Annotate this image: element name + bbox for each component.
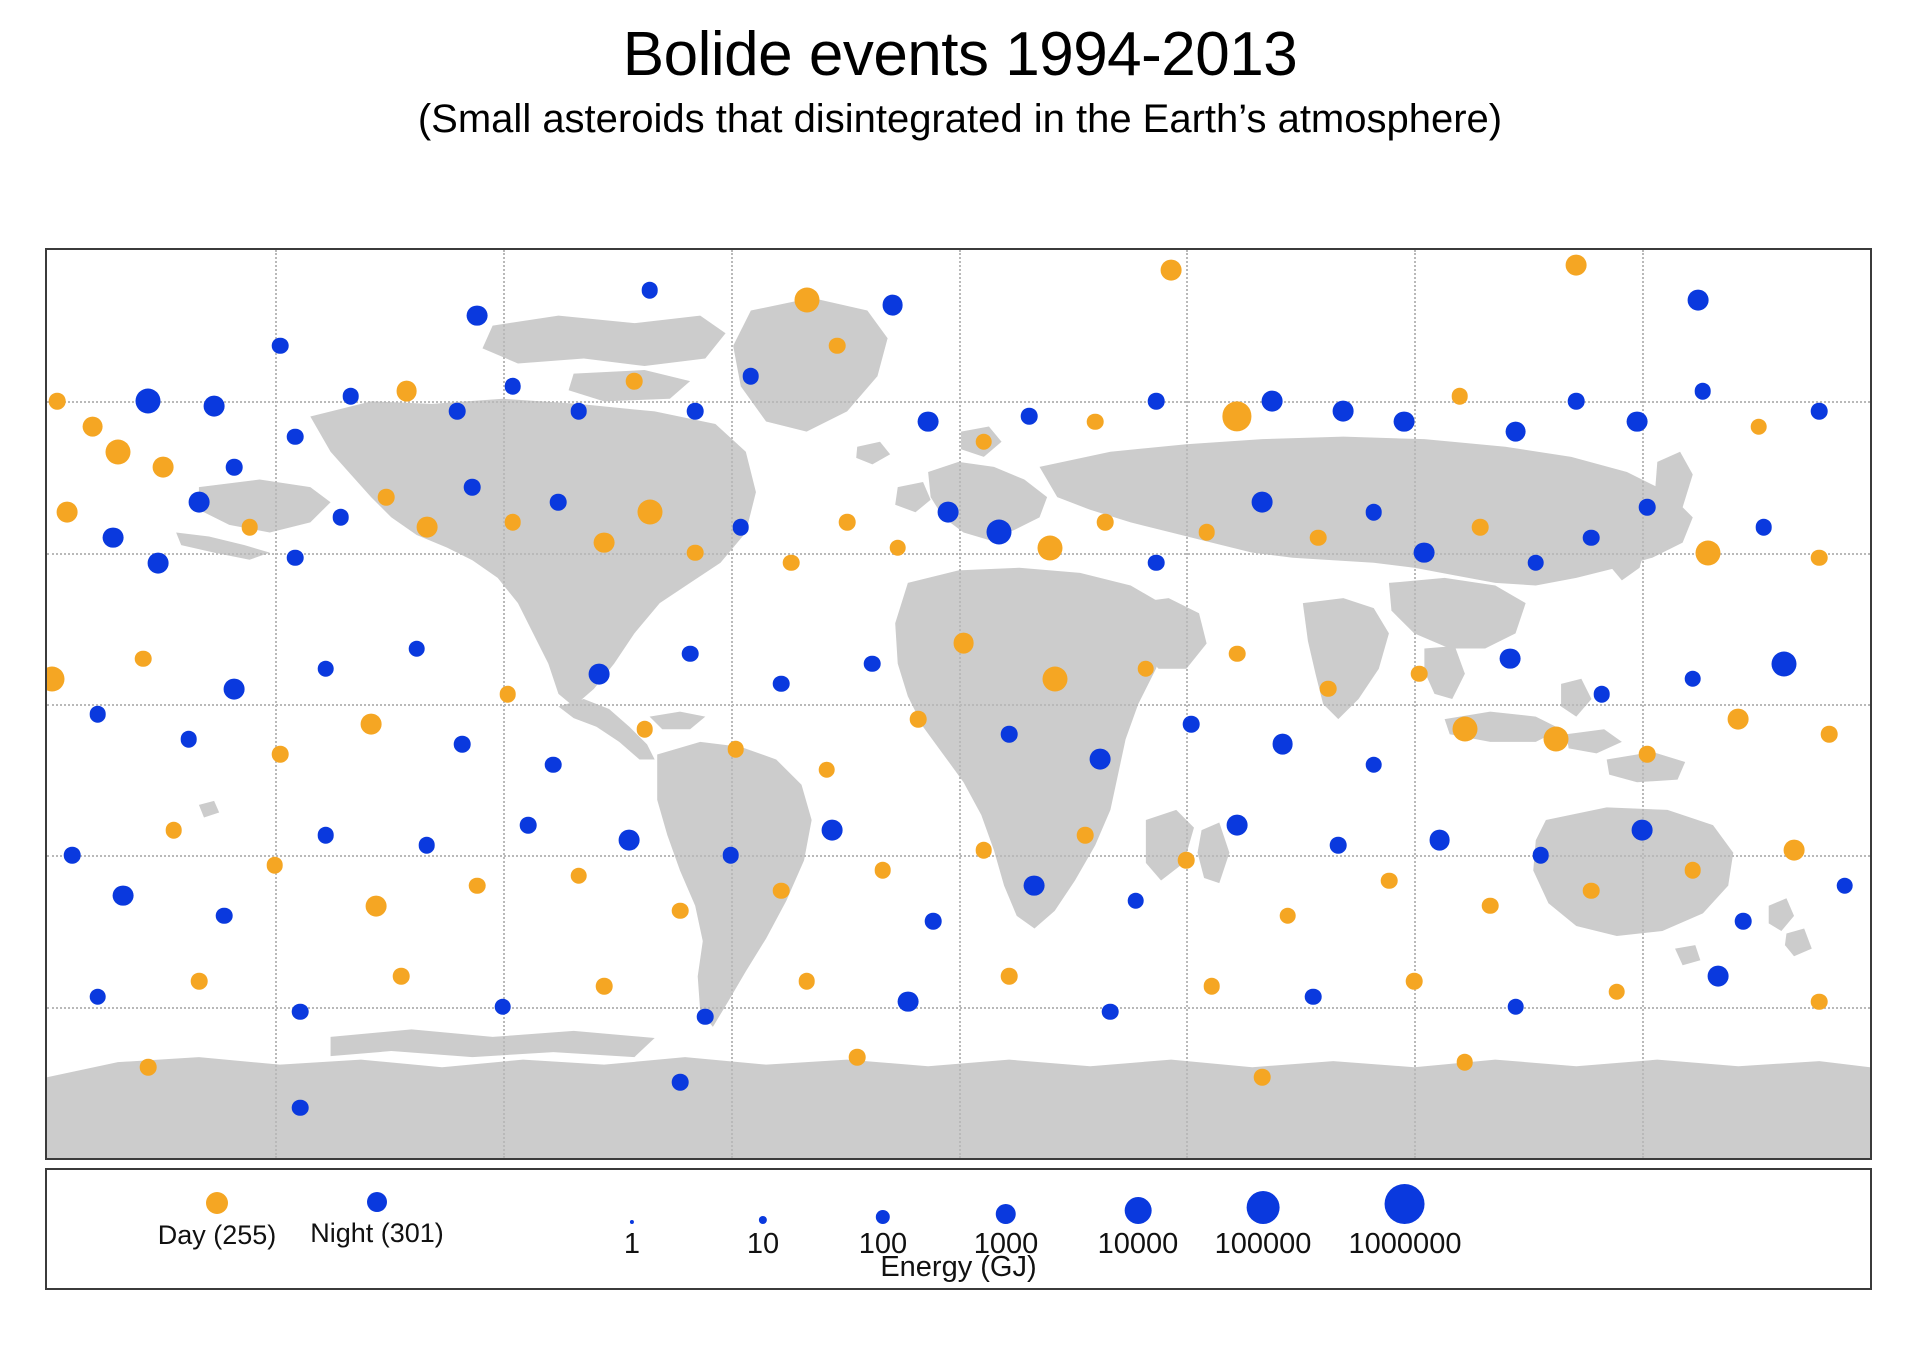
bolide-event-marker[interactable]: [1583, 529, 1600, 546]
bolide-event-marker[interactable]: [1203, 978, 1220, 995]
bolide-event-marker[interactable]: [1148, 554, 1165, 571]
bolide-event-marker[interactable]: [102, 527, 123, 548]
bolide-event-marker[interactable]: [378, 489, 395, 506]
bolide-event-marker[interactable]: [1254, 1069, 1271, 1086]
bolide-event-marker[interactable]: [1811, 403, 1828, 420]
energy-scale-marker-icon: [759, 1216, 767, 1224]
map-canvas[interactable]: [47, 250, 1870, 1158]
bolide-points-layer[interactable]: [47, 250, 1870, 1158]
bolide-event-marker[interactable]: [550, 494, 567, 511]
bolide-event-marker[interactable]: [1566, 255, 1587, 276]
bolide-event-marker[interactable]: [697, 1008, 714, 1025]
bolide-event-marker[interactable]: [272, 338, 289, 355]
bolide-event-marker[interactable]: [287, 549, 304, 566]
bolide-event-marker[interactable]: [1784, 840, 1805, 861]
bolide-event-marker[interactable]: [1811, 993, 1828, 1010]
bolide-event-marker[interactable]: [1708, 966, 1729, 987]
bolide-event-marker[interactable]: [637, 500, 662, 525]
bolide-event-marker[interactable]: [1178, 852, 1195, 869]
bolide-event-marker[interactable]: [864, 655, 881, 672]
bolide-event-marker[interactable]: [1001, 968, 1018, 985]
bolide-event-marker[interactable]: [57, 502, 78, 523]
bolide-event-marker[interactable]: [953, 633, 974, 654]
bolide-event-marker[interactable]: [216, 908, 233, 925]
bolide-event-marker[interactable]: [82, 416, 103, 437]
bolide-event-marker[interactable]: [1639, 746, 1656, 763]
bolide-event-marker[interactable]: [292, 1003, 309, 1020]
bolide-event-marker[interactable]: [1735, 913, 1752, 930]
bolide-event-marker[interactable]: [773, 676, 790, 693]
bolide-event-marker[interactable]: [332, 509, 349, 526]
bolide-event-marker[interactable]: [1533, 847, 1550, 864]
bolide-event-marker[interactable]: [570, 403, 587, 420]
bolide-event-marker[interactable]: [1381, 872, 1398, 889]
bolide-event-marker[interactable]: [343, 388, 360, 405]
bolide-event-marker[interactable]: [500, 686, 517, 703]
energy-scale-marker-icon: [1247, 1191, 1280, 1224]
page-subtitle: (Small asteroids that disintegrated in t…: [0, 97, 1920, 141]
bolide-event-marker[interactable]: [418, 837, 435, 854]
bolide-event-marker[interactable]: [241, 519, 258, 536]
bolide-event-marker[interactable]: [1811, 549, 1828, 566]
bolide-event-marker[interactable]: [1472, 519, 1489, 536]
bolide-event-marker[interactable]: [918, 411, 939, 432]
bolide-event-marker[interactable]: [672, 1074, 689, 1091]
bolide-event-marker[interactable]: [1411, 665, 1428, 682]
bolide-event-marker[interactable]: [594, 532, 615, 553]
energy-scale-tick: 10: [747, 1182, 779, 1261]
bolide-event-marker[interactable]: [505, 514, 522, 531]
bolide-event-marker[interactable]: [641, 282, 658, 299]
bolide-event-marker[interactable]: [798, 973, 815, 990]
bolide-event-marker[interactable]: [464, 479, 481, 496]
bolide-event-marker[interactable]: [570, 867, 587, 884]
bolide-event-marker[interactable]: [1320, 681, 1337, 698]
bolide-event-marker[interactable]: [626, 373, 643, 390]
bolide-event-marker[interactable]: [1695, 540, 1720, 565]
bolide-event-marker[interactable]: [1429, 830, 1450, 851]
energy-scale-tick: 1000: [974, 1182, 1039, 1261]
bolide-event-marker[interactable]: [396, 381, 417, 402]
energy-scale-marker-icon: [630, 1220, 634, 1224]
bolide-event-marker[interactable]: [1222, 402, 1251, 431]
bolide-event-marker[interactable]: [1452, 388, 1469, 405]
bolide-event-marker[interactable]: [1097, 514, 1114, 531]
bolide-event-marker[interactable]: [1227, 815, 1248, 836]
bolide-event-marker[interactable]: [467, 305, 488, 326]
bolide-event-marker[interactable]: [1728, 709, 1749, 730]
bolide-event-marker[interactable]: [1568, 393, 1585, 410]
bolide-event-marker[interactable]: [1198, 524, 1215, 541]
bolide-event-marker[interactable]: [1684, 862, 1701, 879]
bolide-event-marker[interactable]: [1593, 686, 1610, 703]
bolide-event-marker[interactable]: [839, 514, 856, 531]
bolide-event-marker[interactable]: [317, 827, 334, 844]
bolide-event-marker[interactable]: [849, 1049, 866, 1066]
bolide-event-marker[interactable]: [49, 393, 66, 410]
energy-scale-marker-icon: [876, 1210, 890, 1224]
map-panel[interactable]: [45, 248, 1872, 1160]
bolide-event-marker[interactable]: [682, 645, 699, 662]
bolide-event-marker[interactable]: [1609, 983, 1626, 1000]
bolide-event-marker[interactable]: [1161, 260, 1182, 281]
bolide-event-marker[interactable]: [976, 433, 993, 450]
bolide-event-marker[interactable]: [1482, 897, 1499, 914]
bolide-event-marker[interactable]: [727, 741, 744, 758]
bolide-event-marker[interactable]: [1148, 393, 1165, 410]
bolide-event-marker[interactable]: [976, 842, 993, 859]
bolide-event-marker[interactable]: [1452, 717, 1477, 742]
bolide-event-marker[interactable]: [361, 714, 382, 735]
bolide-event-marker[interactable]: [589, 663, 610, 684]
energy-scale-tick: 100000: [1215, 1182, 1312, 1261]
bolide-event-marker[interactable]: [520, 817, 537, 834]
bolide-event-marker[interactable]: [1077, 827, 1094, 844]
bolide-event-marker[interactable]: [1639, 499, 1656, 516]
bolide-event-marker[interactable]: [1583, 882, 1600, 899]
bolide-event-marker[interactable]: [449, 403, 466, 420]
bolide-event-marker[interactable]: [64, 847, 81, 864]
bolide-event-marker[interactable]: [1229, 645, 1246, 662]
bolide-event-marker[interactable]: [105, 439, 130, 464]
bolide-event-marker[interactable]: [1544, 727, 1569, 752]
bolide-event-marker[interactable]: [889, 539, 906, 556]
energy-scale-marker-icon: [996, 1204, 1016, 1224]
bolide-event-marker[interactable]: [773, 882, 790, 899]
bolide-event-marker[interactable]: [1330, 837, 1347, 854]
bolide-event-marker[interactable]: [267, 857, 284, 874]
bolide-event-marker[interactable]: [1394, 411, 1415, 432]
bolide-event-marker[interactable]: [1750, 418, 1767, 435]
bolide-event-marker[interactable]: [1183, 716, 1200, 733]
bolide-event-marker[interactable]: [153, 457, 174, 478]
bolide-event-marker[interactable]: [135, 650, 152, 667]
bolide-event-marker[interactable]: [619, 830, 640, 851]
bolide-event-marker[interactable]: [1272, 734, 1293, 755]
bolide-event-marker[interactable]: [1365, 756, 1382, 773]
bolide-event-marker[interactable]: [1821, 726, 1838, 743]
bolide-event-marker[interactable]: [1279, 908, 1296, 925]
bolide-event-marker[interactable]: [925, 913, 942, 930]
bolide-event-marker[interactable]: [1024, 875, 1045, 896]
bolide-event-marker[interactable]: [505, 378, 522, 395]
bolide-event-marker[interactable]: [687, 544, 704, 561]
energy-scale-marker-icon: [1125, 1197, 1152, 1224]
bolide-event-marker[interactable]: [226, 459, 243, 476]
bolide-event-marker[interactable]: [1252, 492, 1273, 513]
bolide-event-marker[interactable]: [987, 520, 1012, 545]
bolide-event-marker[interactable]: [204, 396, 225, 417]
bolide-event-marker[interactable]: [1755, 519, 1772, 536]
bolide-event-marker[interactable]: [1333, 401, 1354, 422]
bolide-event-marker[interactable]: [821, 820, 842, 841]
bolide-event-marker[interactable]: [494, 998, 511, 1015]
bolide-event-marker[interactable]: [1365, 504, 1382, 521]
bolide-event-marker[interactable]: [408, 640, 425, 657]
bolide-event-marker[interactable]: [416, 517, 437, 538]
bolide-event-marker[interactable]: [317, 660, 334, 677]
bolide-event-marker[interactable]: [1627, 411, 1648, 432]
bolide-event-marker[interactable]: [545, 756, 562, 773]
energy-scale-marker-icon: [1385, 1184, 1425, 1224]
bolide-event-marker[interactable]: [1507, 998, 1524, 1015]
bolide-event-marker[interactable]: [1687, 290, 1708, 311]
bolide-event-marker[interactable]: [1310, 529, 1327, 546]
bolide-event-marker[interactable]: [113, 885, 134, 906]
bolide-event-marker[interactable]: [1406, 973, 1423, 990]
bolide-event-marker[interactable]: [1090, 749, 1111, 770]
bolide-event-marker[interactable]: [732, 519, 749, 536]
bolide-event-marker[interactable]: [89, 988, 106, 1005]
bolide-event-marker[interactable]: [1001, 726, 1018, 743]
bolide-event-marker[interactable]: [829, 338, 846, 355]
bolide-event-marker[interactable]: [469, 877, 486, 894]
bolide-event-marker[interactable]: [1457, 1054, 1474, 1071]
bolide-event-marker[interactable]: [1684, 670, 1701, 687]
energy-scale-tick: 10000: [1098, 1182, 1179, 1261]
bolide-event-marker[interactable]: [1632, 820, 1653, 841]
bolide-event-marker[interactable]: [1414, 542, 1435, 563]
bolide-event-marker[interactable]: [393, 968, 410, 985]
bolide-event-marker[interactable]: [1037, 535, 1062, 560]
bolide-event-marker[interactable]: [910, 711, 927, 728]
bolide-event-marker[interactable]: [819, 761, 836, 778]
bolide-event-marker[interactable]: [743, 368, 760, 385]
bolide-event-marker[interactable]: [794, 288, 819, 313]
bolide-event-marker[interactable]: [1836, 877, 1853, 894]
bolide-event-marker[interactable]: [140, 1059, 157, 1076]
bolide-event-marker[interactable]: [636, 721, 653, 738]
energy-axis-label: Energy (GJ): [47, 1251, 1870, 1284]
bolide-event-marker[interactable]: [874, 862, 891, 879]
bolide-event-marker[interactable]: [1527, 554, 1544, 571]
bolide-event-marker[interactable]: [224, 678, 245, 699]
bolide-event-marker[interactable]: [287, 428, 304, 445]
bolide-event-marker[interactable]: [596, 978, 613, 995]
bolide-event-marker[interactable]: [897, 991, 918, 1012]
bolide-event-marker[interactable]: [672, 903, 689, 920]
bolide-event-marker[interactable]: [292, 1099, 309, 1116]
bolide-event-marker[interactable]: [722, 847, 739, 864]
energy-scale-tick: 1: [624, 1182, 640, 1261]
bolide-event-marker[interactable]: [687, 403, 704, 420]
bolide-event-marker[interactable]: [1500, 648, 1521, 669]
legend-panel[interactable]: Day (255)Night (301) 1101001000100001000…: [45, 1168, 1872, 1290]
bolide-event-marker[interactable]: [938, 502, 959, 523]
bolide-event-marker[interactable]: [1695, 383, 1712, 400]
bolide-event-marker[interactable]: [1262, 391, 1283, 412]
bolide-event-marker[interactable]: [1042, 666, 1067, 691]
bolide-event-marker[interactable]: [1771, 651, 1796, 676]
bolide-event-marker[interactable]: [272, 746, 289, 763]
bolide-event-marker[interactable]: [89, 706, 106, 723]
energy-scale-tick: 1000000: [1349, 1182, 1462, 1261]
bolide-event-marker[interactable]: [1305, 988, 1322, 1005]
bolide-event-marker[interactable]: [165, 822, 182, 839]
bolide-event-marker[interactable]: [882, 295, 903, 316]
bolide-event-marker[interactable]: [366, 895, 387, 916]
bolide-event-marker[interactable]: [1021, 408, 1038, 425]
bolide-event-marker[interactable]: [1087, 413, 1104, 430]
bolide-event-marker[interactable]: [1138, 660, 1155, 677]
bolide-event-marker[interactable]: [1127, 892, 1144, 909]
bolide-event-marker[interactable]: [1102, 1003, 1119, 1020]
bolide-event-marker[interactable]: [191, 973, 208, 990]
bolide-event-marker[interactable]: [454, 736, 471, 753]
bolide-event-marker[interactable]: [148, 552, 169, 573]
bolide-event-marker[interactable]: [180, 731, 197, 748]
bolide-event-marker[interactable]: [783, 554, 800, 571]
bolide-event-marker[interactable]: [1505, 421, 1526, 442]
bolide-event-marker[interactable]: [45, 666, 65, 691]
page-title: Bolide events 1994-2013: [0, 22, 1920, 87]
bolide-event-marker[interactable]: [189, 492, 210, 513]
bolide-event-marker[interactable]: [136, 389, 161, 414]
chart-titles: Bolide events 1994-2013 (Small asteroids…: [0, 0, 1920, 141]
energy-scale-tick: 100: [859, 1182, 907, 1261]
